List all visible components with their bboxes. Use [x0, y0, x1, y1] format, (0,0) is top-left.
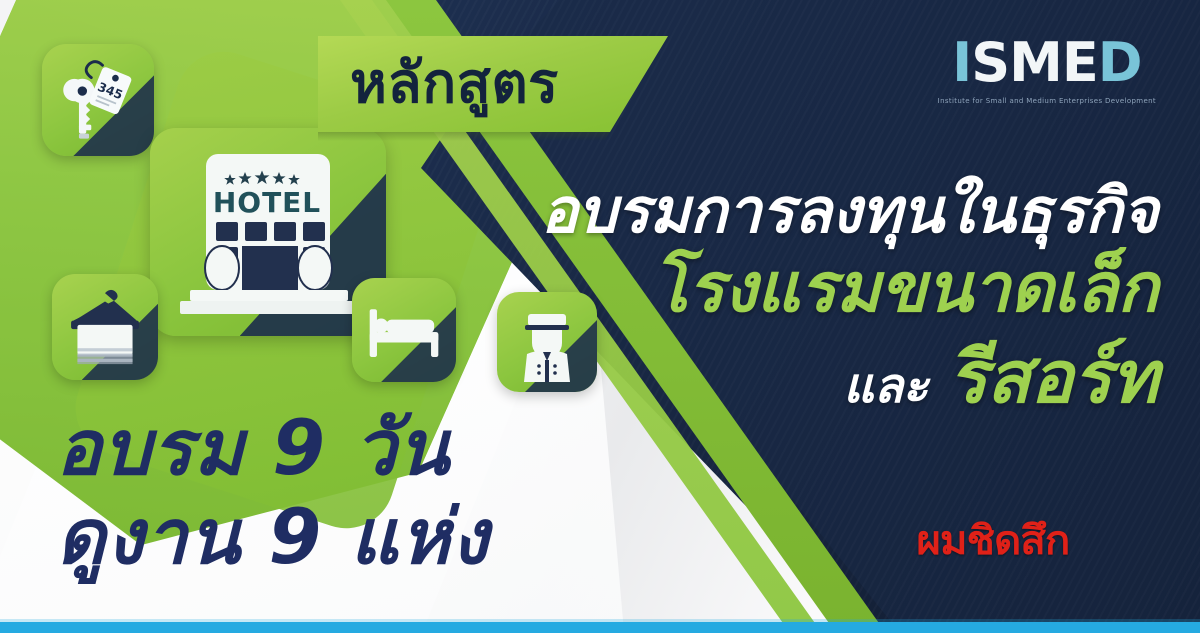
course-ribbon-label: หลักสูตร: [350, 56, 559, 112]
ribbon-shadow: [318, 132, 610, 141]
headline-line-3-prefix: และ: [843, 358, 928, 414]
headline-line-3: และ รีสอร์ท: [498, 336, 1158, 419]
svg-text:HOTEL: HOTEL: [213, 186, 321, 219]
headline-line-2: โรงแรมขนาดเล็ก: [498, 249, 1158, 329]
course-detail-site-visits: ดูงาน 9 แห่ง: [56, 493, 489, 582]
hotel-building-icon: HOTEL: [150, 128, 386, 336]
red-watermark: ผมชิดสึก: [916, 508, 1069, 572]
room-key-tag-glyph: 345: [42, 44, 154, 156]
hotel-building-glyph: HOTEL: [150, 128, 386, 336]
ismed-wordmark: I S M E D: [938, 36, 1156, 90]
headline-line-1: อบรมการลงทุนในธุรกิจ: [498, 176, 1158, 245]
hanger-towel-glyph: [52, 274, 158, 380]
headline-block: อบรมการลงทุนในธุรกิจ โรงแรมขนาดเล็ก และ …: [498, 176, 1158, 418]
bottom-cyan-bar: [0, 622, 1200, 633]
logo-letter-m: M: [1009, 36, 1062, 90]
bed-icon: [352, 278, 456, 382]
logo-letter-i: I: [952, 36, 971, 90]
logo-letter-e: E: [1062, 36, 1098, 90]
course-ribbon: หลักสูตร: [318, 36, 668, 132]
room-key-tag-icon: 345: [42, 44, 154, 156]
ismed-logo-subtitle: Institute for Small and Medium Enterpris…: [938, 97, 1156, 105]
logo-letter-s: S: [971, 36, 1009, 90]
bed-glyph: [352, 278, 456, 382]
logo-letter-d: D: [1098, 36, 1142, 90]
clothes-hanger-towel-icon: [52, 274, 158, 380]
ismed-logo: I S M E D Institute for Small and Medium…: [938, 36, 1156, 105]
course-detail-training-days: อบรม 9 วัน: [56, 404, 489, 493]
headline-line-3-highlight: รีสอร์ท: [949, 335, 1159, 419]
promotional-banner: 345 HOTEL: [0, 0, 1200, 633]
course-details-block: อบรม 9 วัน ดูงาน 9 แห่ง: [56, 404, 489, 582]
